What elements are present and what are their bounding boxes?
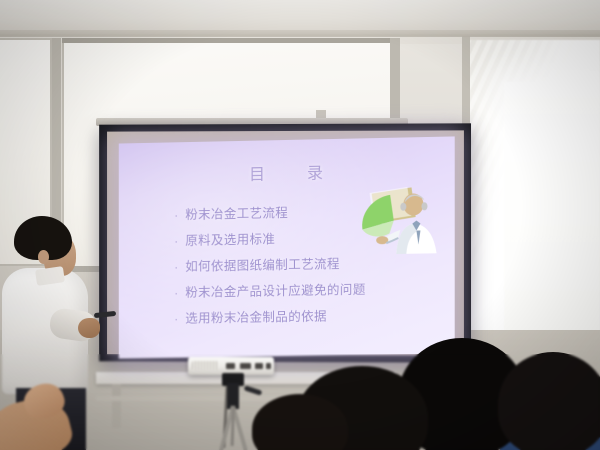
projector-port [240, 363, 251, 369]
bullet-marker-icon: · [174, 263, 185, 274]
list-item: · 粉末冶金产品设计应避免的问题 [174, 279, 365, 301]
list-item: · 原料及选用标准 [174, 226, 365, 249]
desk-leg [112, 384, 121, 428]
classroom-photo: 目 录 [0, 0, 600, 450]
presenter-ear [38, 250, 49, 264]
list-item: · 粉末冶金工艺流程 [174, 200, 365, 223]
bullet-text: 粉末冶金产品设计应避免的问题 [185, 279, 365, 301]
presenter-with-chart-clipart [356, 185, 440, 263]
bullet-marker-icon: · [174, 237, 185, 248]
audience-member [498, 352, 600, 450]
bullet-marker-icon: · [174, 289, 185, 300]
bullet-marker-icon: · [174, 315, 185, 326]
bullet-text: 选用粉末冶金制品的依据 [185, 305, 327, 326]
window [466, 40, 600, 340]
list-item: · 如何依据图纸编制工艺流程 [174, 253, 365, 275]
bullet-text: 如何依据图纸编制工艺流程 [185, 253, 340, 275]
projector-vent [192, 361, 218, 370]
bullet-marker-icon: · [174, 211, 185, 222]
presenter-hand [78, 318, 100, 338]
projector-port [226, 363, 235, 369]
bullet-text: 粉末冶金工艺流程 [185, 202, 288, 223]
slide-bullet-list: · 粉末冶金工艺流程 · 原料及选用标准 · 如何依据图纸编制工艺流程 · 粉末… [174, 200, 365, 333]
list-item: · 选用粉末冶金制品的依据 [174, 305, 365, 327]
projector-port [266, 363, 271, 369]
projector-port [255, 363, 263, 369]
window-mullion [62, 38, 392, 43]
ceiling-edge [0, 30, 600, 37]
projected-slide: 目 录 [119, 136, 455, 358]
bullet-text: 原料及选用标准 [185, 228, 275, 249]
